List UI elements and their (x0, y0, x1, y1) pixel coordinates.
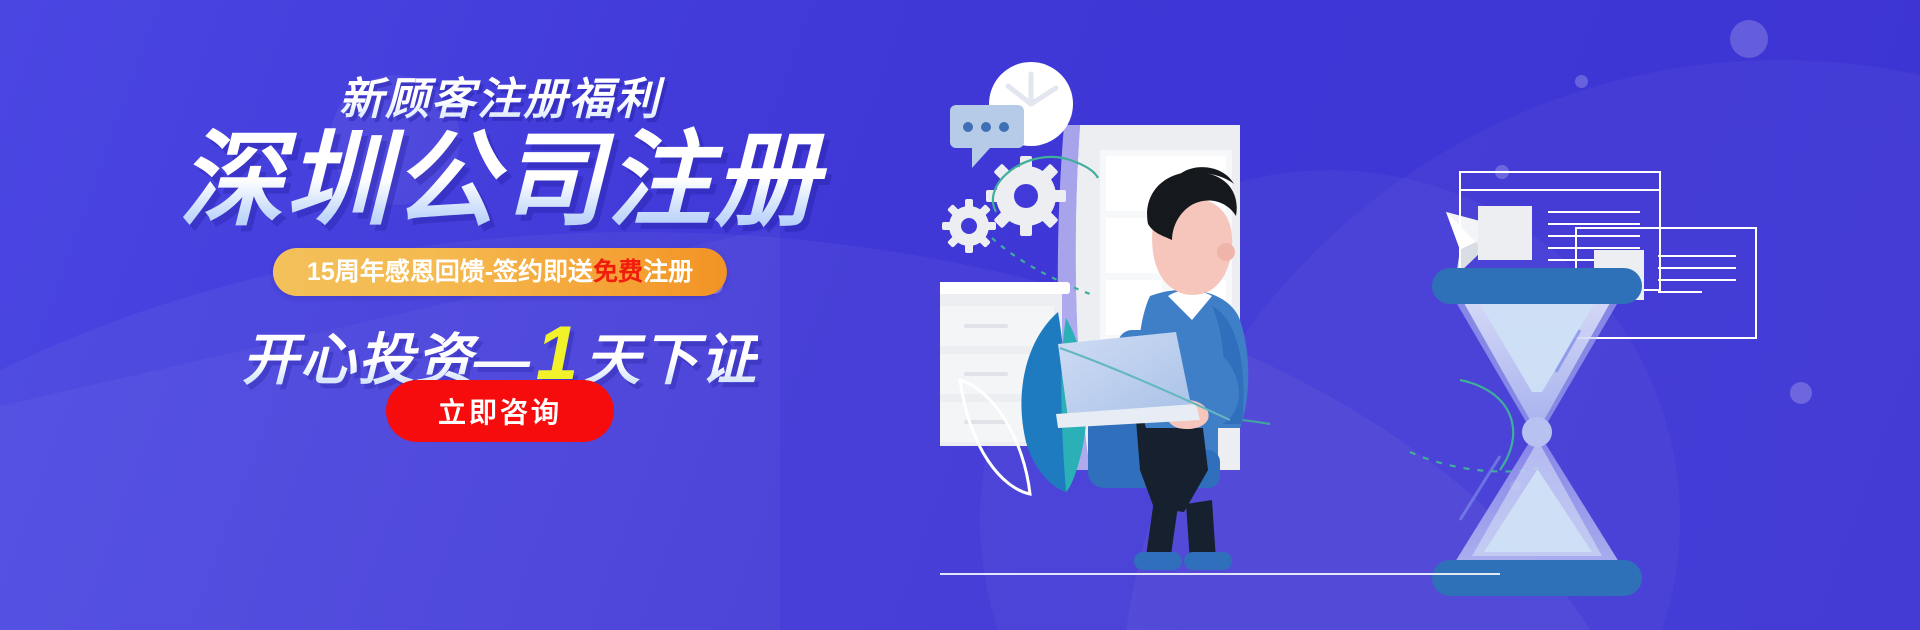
promo-suffix: 注册 (643, 258, 693, 286)
illustration-scene (940, 0, 1920, 630)
page-title: 深圳公司注册 (0, 125, 1000, 237)
promo-highlight: 免费 (593, 258, 643, 286)
promo-banner: 新顾客注册福利 深圳公司注册 15周年感恩回馈-签约即送免费注册 开心投资—1天… (0, 0, 1920, 630)
hourglass (1432, 268, 1642, 596)
consult-now-button[interactable]: 立即咨询 (386, 380, 614, 442)
copy-block: 新顾客注册福利 深圳公司注册 15周年感恩回馈-签约即送免费注册 开心投资—1天… (0, 0, 1000, 630)
eyebrow-text: 新顾客注册福利 (0, 63, 1000, 127)
promo-prefix: 15周年感恩回馈-签约即送 (307, 258, 593, 286)
promo-badge: 15周年感恩回馈-签约即送免费注册 (273, 248, 727, 296)
tagline-after: 天下证 (584, 328, 758, 391)
